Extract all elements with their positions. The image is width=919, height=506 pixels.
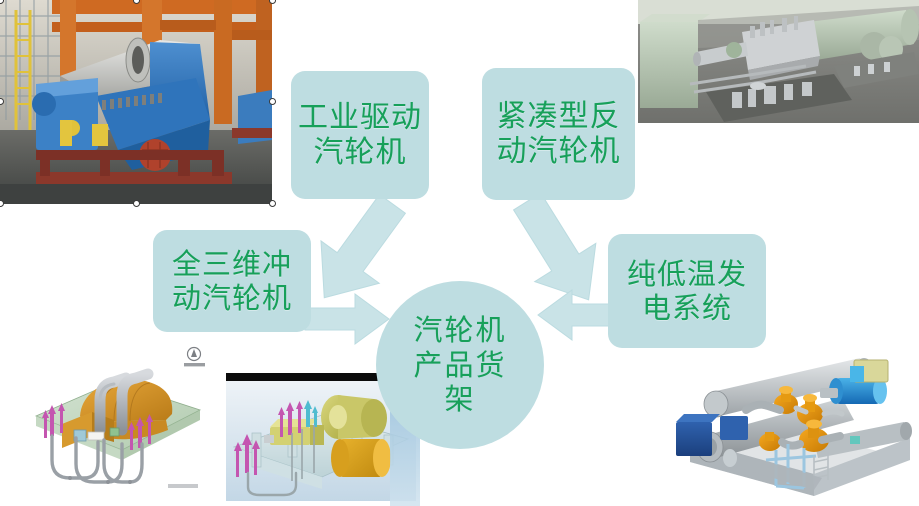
photo-3d-turbine-hall[interactable] (638, 0, 919, 123)
center-node[interactable]: 汽轮机 产品货 架 (376, 281, 544, 449)
node-industrial-drive-turbine[interactable]: 工业驱动 汽轮机 (291, 71, 429, 199)
selection-handle-e[interactable] (269, 98, 276, 105)
node-compact-reaction-turbine-label: 紧凑型反 动汽轮机 (497, 99, 621, 170)
selection-handle-sw[interactable] (0, 200, 4, 207)
center-node-label: 汽轮机 产品货 架 (413, 313, 506, 417)
node-full-3d-impulse-turbine-label: 全三维冲 动汽轮机 (172, 247, 292, 315)
node-low-temp-power-system-label: 纯低温发 电系统 (627, 257, 747, 325)
photo-cad-gold-turbine-assembly[interactable] (18, 338, 223, 500)
selection-handle-se[interactable] (269, 200, 276, 207)
selection-handle-s[interactable] (133, 200, 140, 207)
photo-cad-orc-skid[interactable] (664, 344, 916, 504)
node-low-temp-power-system[interactable]: 纯低温发 电系统 (608, 234, 766, 348)
node-compact-reaction-turbine[interactable]: 紧凑型反 动汽轮机 (482, 68, 635, 200)
node-full-3d-impulse-turbine[interactable]: 全三维冲 动汽轮机 (153, 230, 311, 332)
arrow-from-full-3d-impulse (305, 292, 391, 346)
photo-factory-blue-turbine[interactable] (0, 0, 272, 204)
slide-canvas: 工业驱动 汽轮机 紧凑型反 动汽轮机 全三维冲 动汽轮机 纯低温发 电系统 汽轮… (0, 0, 919, 506)
node-industrial-drive-turbine-label: 工业驱动 汽轮机 (298, 100, 422, 171)
selection-handle-ne[interactable] (269, 0, 276, 4)
photo-factory-blue-turbine-content (0, 0, 272, 204)
photo-3d-turbine-hall-content (638, 0, 919, 123)
photo-cad-gold-turbine-content (18, 338, 223, 500)
photo-cad-orc-skid-content (664, 344, 916, 504)
